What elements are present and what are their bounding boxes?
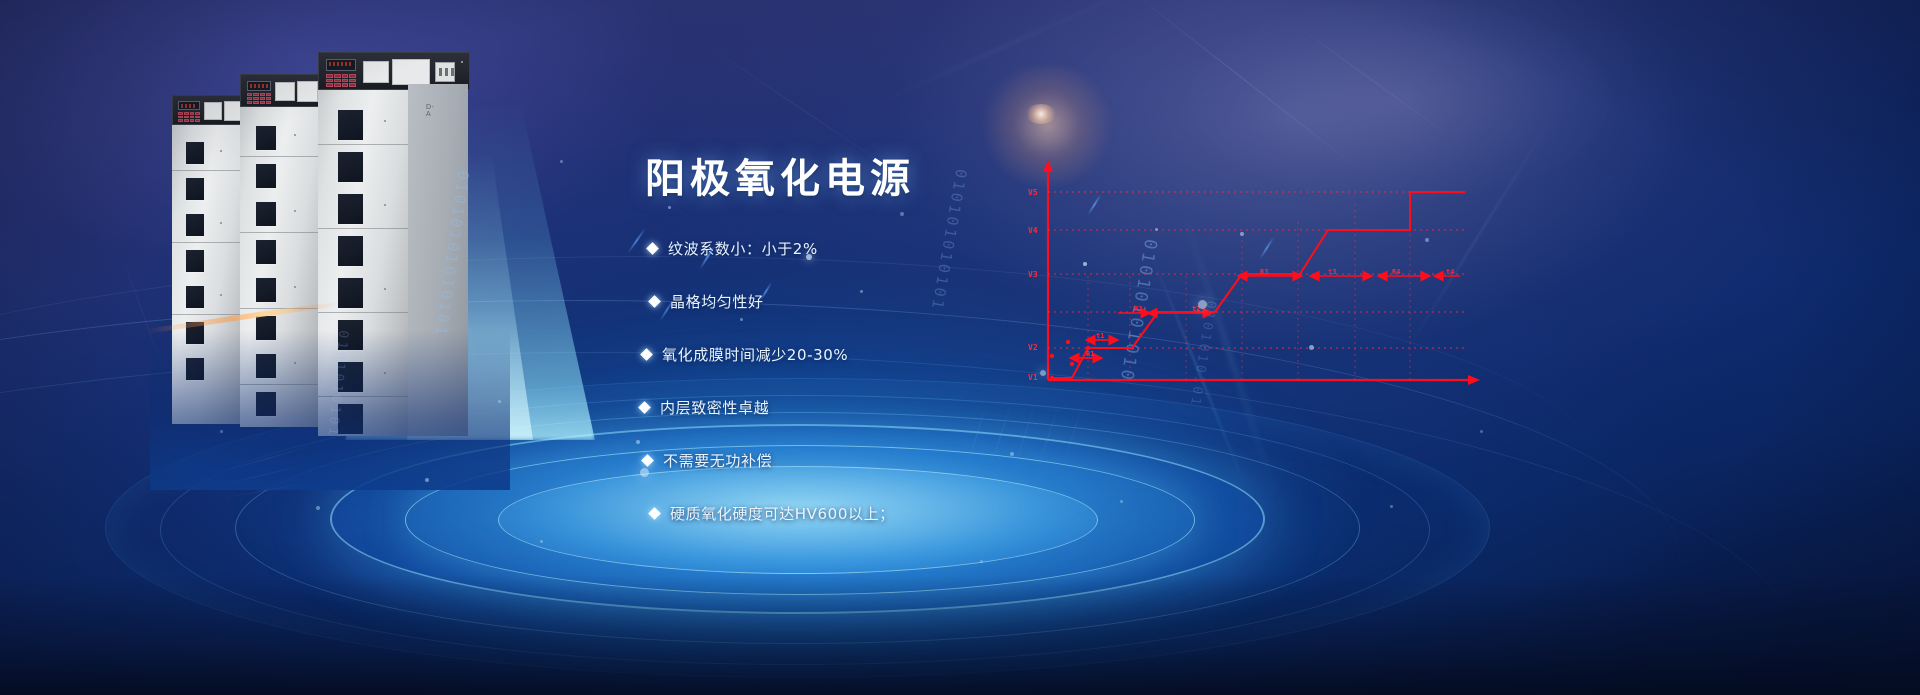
cabinet-vent [338,236,363,266]
cabinet-screw [220,294,222,296]
cabinet-seam [318,396,408,397]
cabinet-screw [294,362,296,364]
cabinet-vent [256,278,276,302]
cabinet-vent [256,202,276,226]
cabinet-vent [256,316,276,340]
list-item-label: 硬质氧化硬度可达HV600以上； [670,503,895,524]
chart-x-axis [1048,375,1480,385]
cabinet-display [247,81,271,91]
cabinet-screw [294,286,296,288]
x-axis-arrow [1468,375,1480,385]
chart-dimension-annotations [1070,276,1460,358]
cabinet-keypad [247,93,271,104]
cabinet-keypad [326,74,356,87]
page-title: 阳极氧化电源 [645,146,915,204]
particle [316,506,320,510]
cabinet-vent [256,126,276,150]
list-item: 硬质氧化硬度可达HV600以上； [650,501,1110,525]
cabinet-screw [384,120,386,122]
particle [980,560,983,563]
diamond-bullet-icon [641,454,654,467]
cabinet-logo: D-A [426,104,434,118]
list-item-label: 不需要无功补偿 [663,450,772,471]
light-streak [860,0,1171,112]
particle [668,206,671,209]
cabinet-seam [172,242,244,243]
cabinet-vent [256,354,276,378]
cabinet-keypad [178,112,200,122]
list-item-label: 内层致密性卓越 [660,397,769,418]
y-tick-label: V1 [1028,373,1038,382]
cabinet-screw [294,210,296,212]
cabinet-vent [338,110,363,140]
cabinet-vent [186,358,204,380]
cabinet-vent [256,392,276,416]
list-item-label: 晶格均匀性好 [670,291,764,312]
bottom-fade-overlay [0,575,1920,695]
y-axis-arrow [1043,160,1053,172]
list-item: 不需要无功补偿 [643,448,1110,472]
diamond-bullet-icon [648,507,661,520]
cabinet-display [178,101,200,110]
light-streak [1290,20,1469,150]
particle [1120,500,1123,503]
chart-data-points [1050,340,1090,380]
cabinet-label-plate [204,102,222,120]
diamond-bullet-icon [646,242,659,255]
particle [540,540,543,543]
power-cabinet [240,102,318,427]
cabinet-vent [338,362,363,392]
cabinet-seam [318,312,408,313]
cabinet-screw [384,204,386,206]
cabinet-seam [318,144,408,145]
annotation-label: R1 [1086,350,1094,358]
cabinet-label-plate [392,59,430,85]
particle [900,212,904,216]
cabinet-side-panel [408,84,468,436]
annotation-label: t4 [1446,268,1454,276]
y-tick-label: V4 [1028,226,1038,235]
particle [560,160,563,163]
cabinet-seam [240,232,318,233]
power-cabinet [172,120,244,424]
cabinet-screw [294,134,296,136]
cabinet-vent [256,164,276,188]
chart-gridlines [1048,192,1465,348]
chart-series-line [1052,192,1465,378]
cabinet-screw [461,61,463,63]
cabinet-label-plate [297,81,318,102]
cabinet-vent [338,278,363,308]
diamond-bullet-icon [648,295,661,308]
diamond-bullet-icon [638,401,651,414]
annotation-label: R4 [1392,268,1400,276]
list-item-label: 纹波系数小：小于2% [668,238,818,259]
particle [1390,505,1393,508]
cabinet-vent [186,142,204,164]
cabinet-breaker [435,62,455,82]
cabinet-vent [338,152,363,182]
chart-y-axis [1043,160,1053,380]
cabinet-vent [186,178,204,200]
lens-flare-core [1026,104,1056,124]
annotation-label: R3 [1260,268,1268,276]
annotation-label: t2 [1192,305,1200,313]
cabinet-seam [172,170,244,171]
cabinet-screw [220,150,222,152]
diamond-bullet-icon [640,348,653,361]
radial-line [220,482,309,499]
cabinet-vent [338,320,363,350]
chart-vertical-gridlines [1088,192,1410,380]
voltage-ramp-chart: V1 V2 V3 V4 V5 [1010,150,1510,400]
cabinet-vent [256,240,276,264]
particle [1480,430,1483,433]
y-tick-label: V5 [1028,188,1038,197]
chart-y-tick-labels: V1 V2 V3 V4 V5 [1028,188,1038,382]
cabinet-screw [384,372,386,374]
banner-stage: D-A 01010101010101 0101010101 0101010101… [0,0,1920,695]
cabinet-vent [186,286,204,308]
cabinet-screw [220,222,222,224]
cabinet-label-plate [275,82,295,101]
power-cabinet: D-A [318,84,408,436]
cabinet-seam [318,228,408,229]
cabinet-display [326,59,356,71]
list-item-label: 氧化成膜时间减少20-30% [662,344,848,365]
cabinet-vent [186,214,204,236]
annotation-label: t1 [1096,332,1104,340]
cabinet-vent [186,250,204,272]
y-tick-label: V3 [1028,270,1038,279]
y-tick-label: V2 [1028,343,1038,352]
light-streak [120,250,169,382]
equipment-group: D-A [168,84,488,484]
cabinet-vent [338,404,363,434]
cabinet-seam [240,384,318,385]
cabinet-screw [384,288,386,290]
cabinet-seam [172,314,244,315]
cabinet-seam [240,156,318,157]
annotation-label: R2 [1134,305,1142,313]
cabinet-vent [338,194,363,224]
cabinet-label-plate [363,61,389,83]
annotation-label: t3 [1328,268,1336,276]
